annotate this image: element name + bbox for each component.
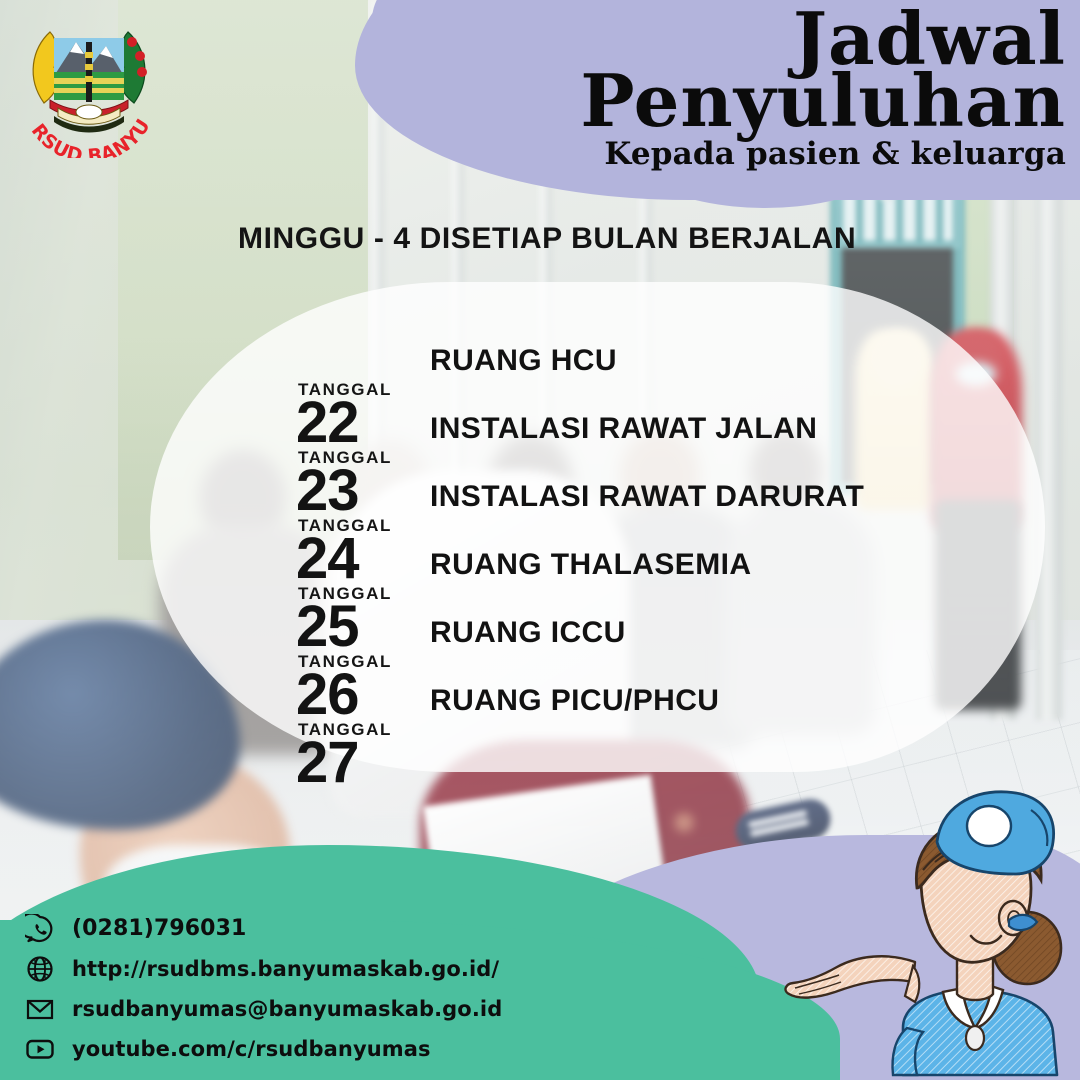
contact-youtube-value: youtube.com/c/rsudbanyumas	[72, 1037, 431, 1061]
envelope-icon	[22, 994, 58, 1024]
contact-phone-value: (0281)796031	[72, 916, 246, 941]
youtube-icon	[22, 1034, 58, 1064]
contact-row-email[interactable]: rsudbanyumas@banyumaskab.go.id	[22, 990, 502, 1027]
room-name: INSTALASI RAWAT DARURAT	[430, 480, 864, 520]
period-banner: MINGGU - 4 DISETIAP BULAN BERJALAN	[238, 222, 856, 256]
schedule-row: TANGGAL 24 INSTALASI RAWAT DARURAT	[296, 452, 916, 520]
contact-list: (0281)796031 http://rsudbms.banyumaskab.…	[22, 910, 502, 1070]
poster-canvas: RSUD BANYUMAS Jadwal Penyuluhan Kepada p…	[0, 0, 1080, 1080]
schedule-row: TANGGAL 25 RUANG THALASEMIA	[296, 520, 916, 588]
room-name: RUANG ICCU	[430, 616, 626, 656]
room-name: RUANG PICU/PHCU	[430, 684, 719, 724]
schedule-row: TANGGAL 27 RUANG PICU/PHCU	[296, 656, 916, 724]
nurse-cartoon-illustration	[765, 770, 1080, 1080]
title-line-2: Penyuluhan	[580, 68, 1066, 134]
room-name: INSTALASI RAWAT JALAN	[430, 412, 817, 452]
schedule-row: TANGGAL 26 RUANG ICCU	[296, 588, 916, 656]
contact-row-youtube[interactable]: youtube.com/c/rsudbanyumas	[22, 1030, 502, 1067]
poster-title: Jadwal Penyuluhan Kepada pasien & keluar…	[580, 6, 1066, 169]
rsud-banyumas-logo: RSUD BANYUMAS	[14, 8, 164, 158]
date-number: 27	[296, 734, 359, 792]
schedule-list: TANGGAL 22 RUANG HCU TANGGAL 23 INSTALAS…	[296, 316, 916, 724]
contact-email-value: rsudbanyumas@banyumaskab.go.id	[72, 997, 502, 1021]
contact-row-phone[interactable]: (0281)796031	[22, 910, 502, 947]
contact-website-value: http://rsudbms.banyumaskab.go.id/	[72, 957, 499, 981]
schedule-row: TANGGAL 23 INSTALASI RAWAT JALAN	[296, 384, 916, 452]
title-subtitle: Kepada pasien & keluarga	[580, 140, 1066, 169]
globe-icon	[22, 954, 58, 984]
whatsapp-icon	[22, 914, 58, 944]
contact-row-website[interactable]: http://rsudbms.banyumaskab.go.id/	[22, 950, 502, 987]
schedule-row: TANGGAL 22 RUANG HCU	[296, 316, 916, 384]
room-name: RUANG THALASEMIA	[430, 548, 751, 588]
room-name: RUANG HCU	[430, 344, 617, 384]
